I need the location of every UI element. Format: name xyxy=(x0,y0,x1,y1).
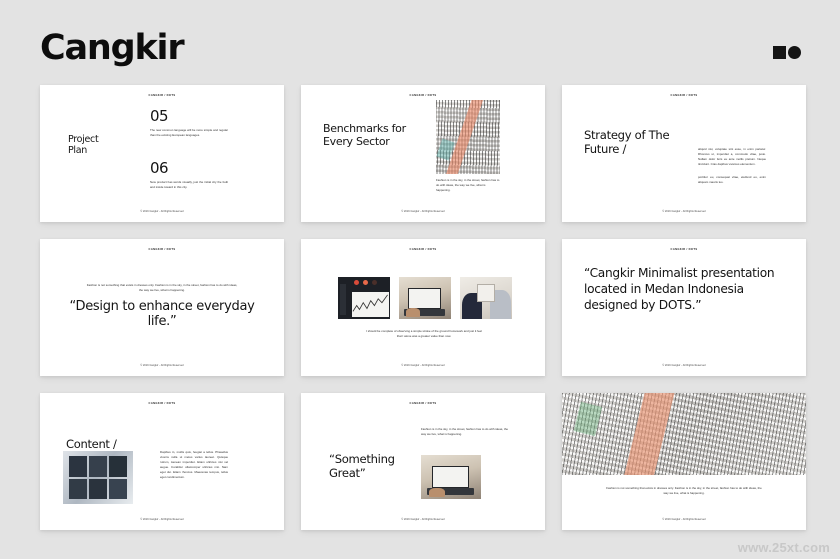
slide-footer: © 2019 Cangkir - All Rights Reserved xyxy=(301,210,545,213)
hand-shape xyxy=(429,488,445,498)
slide-tag: CANGKIR / DOTS xyxy=(301,248,545,251)
slide-thumbnail-project-plan[interactable]: CANGKIR / DOTS Project Plan 05 The new c… xyxy=(40,85,284,222)
block-text: New product has words visually, just the… xyxy=(150,180,228,190)
body-paragraph: porttitor eu, consequat vitae, eleifend … xyxy=(698,175,766,185)
numbered-block: 05 The new common language will be more … xyxy=(150,109,228,138)
two-people-reading-newspaper-image xyxy=(460,277,512,319)
lead-paragraph: Fashion is not something that exists in … xyxy=(86,283,238,293)
slide-tag: CANGKIR / DOTS xyxy=(40,94,284,97)
hand-shape xyxy=(406,308,420,317)
slide-thumbnail-strategy[interactable]: CANGKIR / DOTS Strategy of The Future / … xyxy=(562,85,806,222)
square-icon xyxy=(773,46,786,59)
laptop-screen xyxy=(432,466,469,488)
body-column: Dapibus in, mollis quis, feugiat a tellu… xyxy=(160,450,228,480)
slide-thumbnail-big-quote[interactable]: CANGKIR / DOTS “Cangkir Minimalist prese… xyxy=(562,239,806,376)
image-caption: Fashion is in the sky, in the street, fa… xyxy=(436,178,500,193)
newspaper-stock-listing-wide-image xyxy=(562,393,806,475)
block-text: The new common language will be more sim… xyxy=(150,128,228,138)
slide-tag: CANGKIR / DOTS xyxy=(40,248,284,251)
newspaper-stock-listing-image xyxy=(436,100,500,174)
slide-thumbnail-grid: CANGKIR / DOTS Project Plan 05 The new c… xyxy=(40,85,806,530)
laptop-on-desk-image xyxy=(399,277,451,319)
slide-thumbnail-content[interactable]: CANGKIR / DOTS Content / Dapibus in, mol… xyxy=(40,393,284,530)
slide-thumbnail-design-quote[interactable]: CANGKIR / DOTS Fashion is not something … xyxy=(40,239,284,376)
slide-footer: © 2019 Cangkir - All Rights Reserved xyxy=(562,518,806,521)
slide-footer: © 2019 Cangkir - All Rights Reserved xyxy=(40,518,284,521)
numbered-block: 06 New product has words visually, just … xyxy=(150,161,228,190)
grid-cell xyxy=(89,479,107,500)
line-chart-icon xyxy=(352,292,389,317)
slide-headline: Project Plan xyxy=(68,134,128,156)
slide-footer: © 2019 Cangkir - All Rights Reserved xyxy=(301,364,545,367)
slide-headline: “Something Great” xyxy=(329,453,421,480)
brand-logo-mark[interactable] xyxy=(773,46,801,59)
slide-quote: “Design to enhance everyday life.” xyxy=(56,299,268,330)
red-dot-icon xyxy=(354,280,359,285)
newspaper-sheet xyxy=(477,284,495,302)
dark-dot-icon xyxy=(372,280,377,285)
slide-headline: Content / xyxy=(66,438,117,452)
block-number: 06 xyxy=(150,161,228,176)
trading-dashboard-chart-image xyxy=(338,277,390,319)
slide-tag: CANGKIR / DOTS xyxy=(301,94,545,97)
orange-dot-icon xyxy=(363,280,368,285)
slide-footer: © 2019 Cangkir - All Rights Reserved xyxy=(562,210,806,213)
slide-headline: Strategy of The Future / xyxy=(584,129,704,156)
slide-thumbnail-benchmarks[interactable]: CANGKIR / DOTS Benchmarks for Every Sect… xyxy=(301,85,545,222)
image-caption: Fashion is not something that exists in … xyxy=(604,486,764,496)
watermark: www.25xt.com xyxy=(738,540,830,555)
slide-tag: CANGKIR / DOTS xyxy=(562,248,806,251)
slide-footer: © 2019 Cangkir - All Rights Reserved xyxy=(301,518,545,521)
status-dots xyxy=(354,280,377,285)
lead-paragraph: Fashion is in the sky, in the street, fa… xyxy=(421,427,509,437)
grid-cell xyxy=(69,456,87,477)
laptop-on-desk-image xyxy=(421,455,481,499)
image-caption: I should be complete of observing a simp… xyxy=(365,329,483,339)
image-row xyxy=(338,277,512,319)
slide-headline: Benchmarks for Every Sector xyxy=(323,123,409,149)
laptop-screen xyxy=(408,288,440,309)
headline-line-1: Project xyxy=(68,134,128,145)
headline-line-2: Plan xyxy=(68,145,128,156)
circle-icon xyxy=(788,46,801,59)
grid-cell xyxy=(109,479,127,500)
body-paragraph: aliquid nisi, voluptate sint esse, in en… xyxy=(698,147,766,167)
slide-tag: CANGKIR / DOTS xyxy=(562,94,806,97)
slide-thumbnail-three-images[interactable]: CANGKIR / DOTS xyxy=(301,239,545,376)
chart-panel xyxy=(352,292,389,317)
slide-quote: “Cangkir Minimalist presentation located… xyxy=(584,265,790,314)
grid-cell xyxy=(89,456,107,477)
slide-footer: © 2019 Cangkir - All Rights Reserved xyxy=(40,210,284,213)
page-header: Cangkir xyxy=(0,0,840,85)
slide-tag: CANGKIR / DOTS xyxy=(301,402,545,405)
slide-thumbnail-wide-photo[interactable]: Fashion is not something that exists in … xyxy=(562,393,806,530)
slide-footer: © 2019 Cangkir - All Rights Reserved xyxy=(40,364,284,367)
body-paragraph: Dapibus in, mollis quis, feugiat a tellu… xyxy=(160,450,228,480)
block-number: 05 xyxy=(150,109,228,124)
body-column: aliquid nisi, voluptate sint esse, in en… xyxy=(698,147,766,185)
grid-cell xyxy=(69,479,87,500)
page-title: Cangkir xyxy=(40,28,183,68)
film-slide-grid-image xyxy=(63,451,133,504)
slide-tag: CANGKIR / DOTS xyxy=(40,402,284,405)
grid-cell xyxy=(109,456,127,477)
sidebar-rail xyxy=(340,284,346,315)
slide-thumbnail-something-great[interactable]: CANGKIR / DOTS Fashion is in the sky, in… xyxy=(301,393,545,530)
slide-footer: © 2019 Cangkir - All Rights Reserved xyxy=(562,364,806,367)
